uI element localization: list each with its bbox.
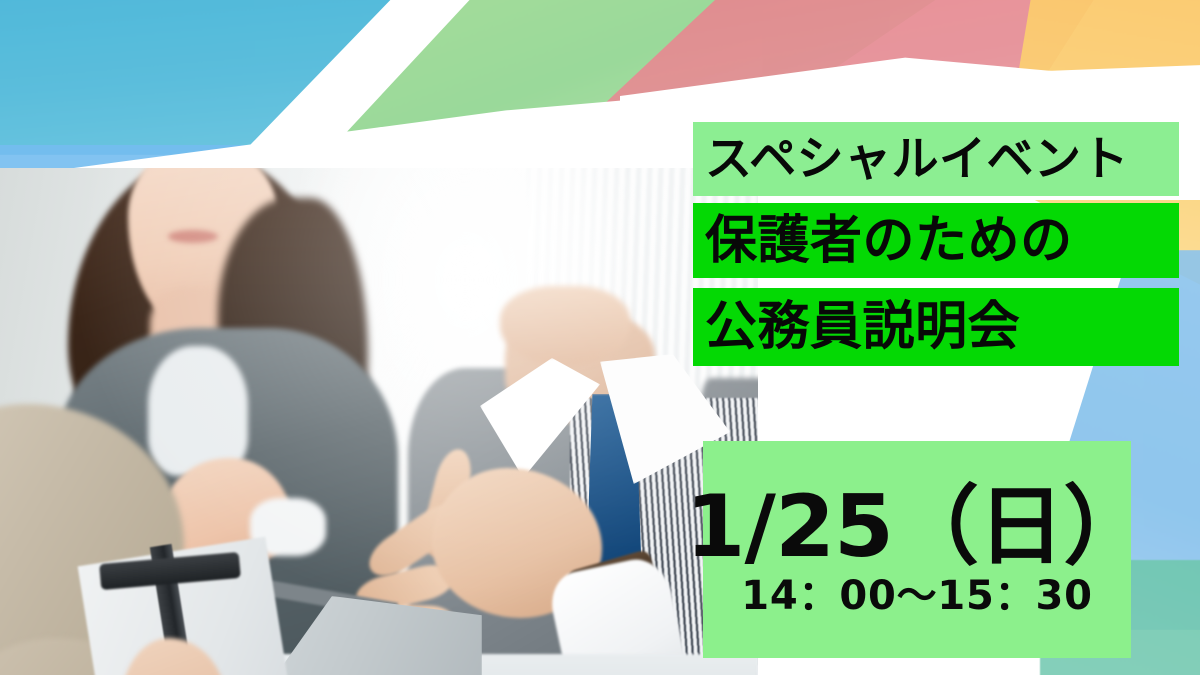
blue-wedge xyxy=(0,0,400,155)
event-poster: スペシャルイベント 保護者のための 公務員説明会 1/25（日） 14：00〜1… xyxy=(0,0,1200,675)
meeting-photo xyxy=(0,168,758,675)
woman-lips xyxy=(168,230,218,243)
schedule-box: 1/25（日） 14：00〜15：30 xyxy=(703,441,1131,658)
woman-blouse xyxy=(148,346,248,476)
headline-line-1: スペシャルイベント xyxy=(693,122,1179,196)
headline-line-2: 保護者のための xyxy=(693,203,1179,278)
headline-line-3: 公務員説明会 xyxy=(693,288,1179,366)
man-chin xyxy=(500,286,630,366)
event-date: 1/25（日） xyxy=(686,484,1149,570)
event-time: 14：00〜15：30 xyxy=(741,576,1092,616)
